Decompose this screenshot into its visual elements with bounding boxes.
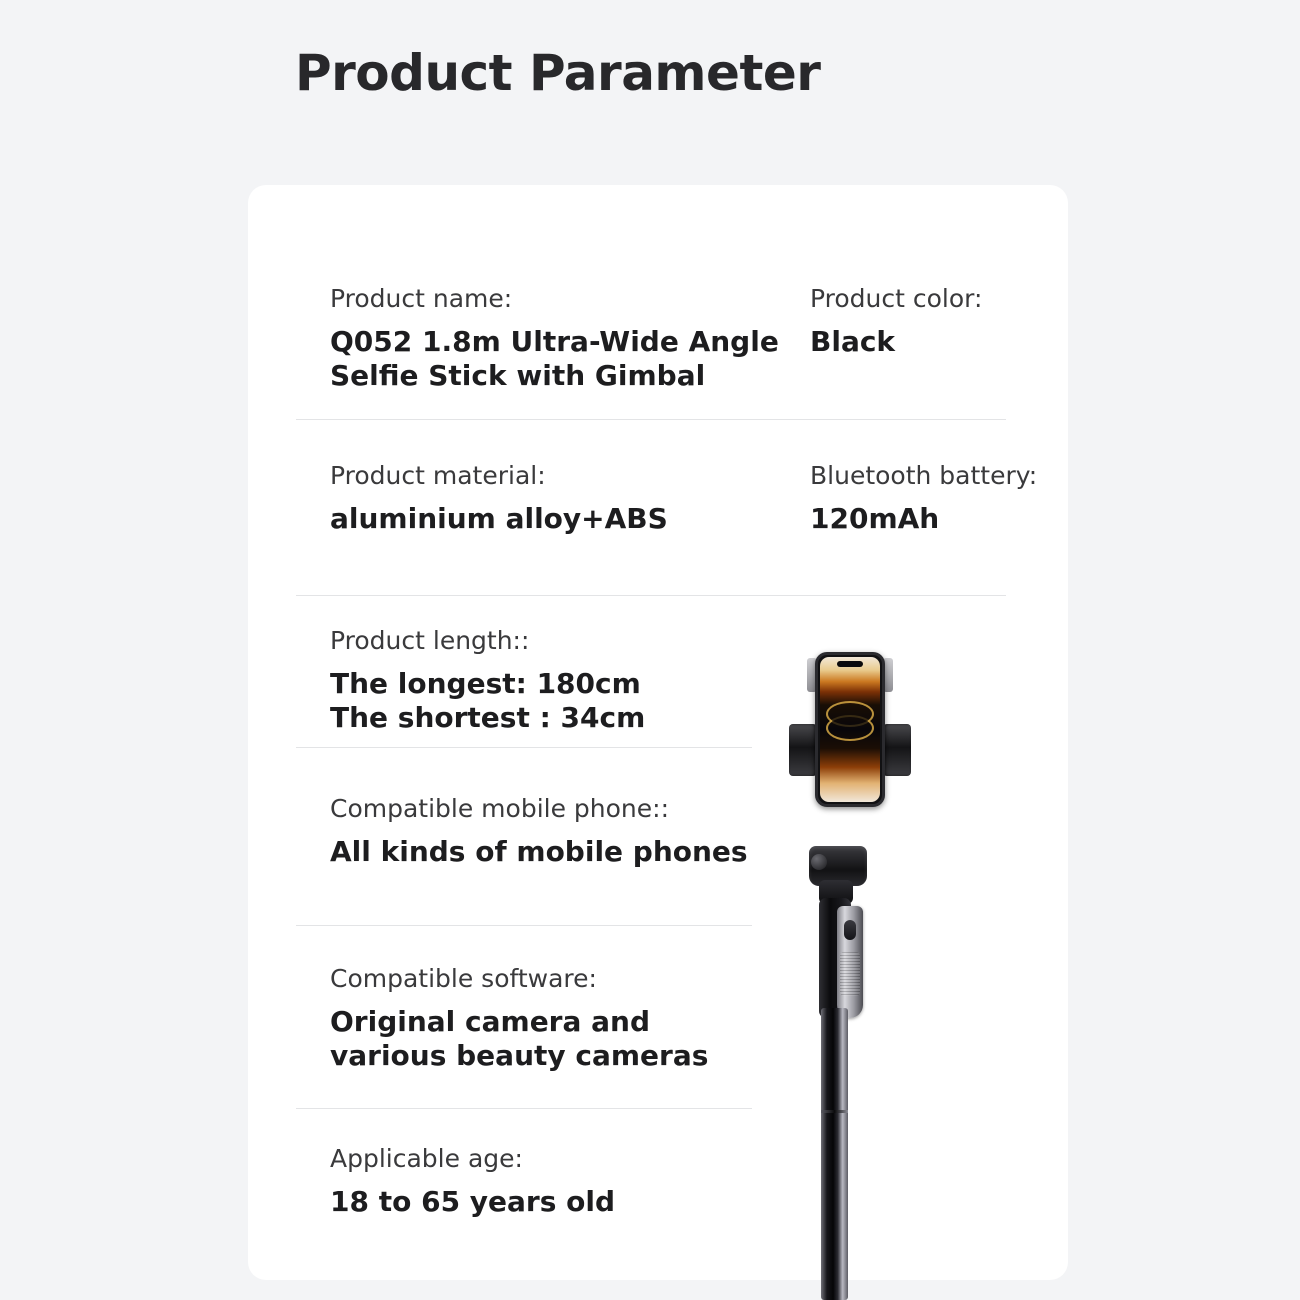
spec-cell-left: Product length::The longest: 180cm The s… <box>330 625 645 736</box>
gimbal-motor-icon <box>811 854 827 870</box>
phone-screen <box>820 657 880 802</box>
spec-label: Product color: <box>810 283 982 314</box>
clamp-arm-right-icon <box>883 724 911 776</box>
remote-grip-texture <box>840 952 860 996</box>
product-parameter-page: Product Parameter Product name:Q052 1.8m… <box>0 0 1300 1300</box>
spec-label: Bluetooth battery: <box>810 460 1037 491</box>
phone-notch-icon <box>837 661 863 667</box>
row-divider <box>296 747 752 748</box>
detachable-remote <box>837 906 863 1018</box>
spec-value: All kinds of mobile phones <box>330 835 748 869</box>
page-title: Product Parameter <box>295 44 820 102</box>
specification-card: Product name:Q052 1.8m Ultra-Wide Angle … <box>248 185 1068 1280</box>
spec-label: Compatible software: <box>330 963 708 994</box>
row-divider <box>296 419 1006 420</box>
spec-label: Product length:: <box>330 625 645 656</box>
spec-cell-left: Compatible mobile phone::All kinds of mo… <box>330 793 748 869</box>
clamp-arm-left-icon <box>789 724 817 776</box>
spec-cell-right: Bluetooth battery:120mAh <box>810 460 1037 536</box>
shutter-button-icon <box>844 920 856 940</box>
spec-cell-left: Compatible software:Original camera and … <box>330 963 708 1074</box>
spec-cell-right: Product color:Black <box>810 283 982 359</box>
spec-label: Product name: <box>330 283 779 314</box>
spec-label: Compatible mobile phone:: <box>330 793 748 824</box>
spec-value: Q052 1.8m Ultra-Wide Angle Selfie Stick … <box>330 325 779 393</box>
spec-value: Black <box>810 325 982 359</box>
spec-value: Original camera and various beauty camer… <box>330 1005 708 1073</box>
spec-value: 120mAh <box>810 502 1037 536</box>
spec-cell-left: Product material:aluminium alloy+ABS <box>330 460 668 536</box>
phone-clamp <box>789 648 911 853</box>
wallpaper-arc-bottom <box>826 715 874 741</box>
telescopic-pole <box>821 1008 848 1300</box>
spec-value: aluminium alloy+ABS <box>330 502 668 536</box>
product-image <box>775 648 925 1300</box>
spec-cell-left: Product name:Q052 1.8m Ultra-Wide Angle … <box>330 283 779 394</box>
row-divider <box>296 1108 752 1109</box>
spec-value: The longest: 180cm The shortest : 34cm <box>330 667 645 735</box>
spec-label: Applicable age: <box>330 1143 615 1174</box>
spec-cell-left: Applicable age:18 to 65 years old <box>330 1143 615 1219</box>
row-divider <box>296 595 1006 596</box>
spec-value: 18 to 65 years old <box>330 1185 615 1219</box>
row-divider <box>296 925 752 926</box>
smartphone <box>815 652 885 807</box>
spec-label: Product material: <box>330 460 668 491</box>
pole-segment-seam <box>821 1110 848 1113</box>
